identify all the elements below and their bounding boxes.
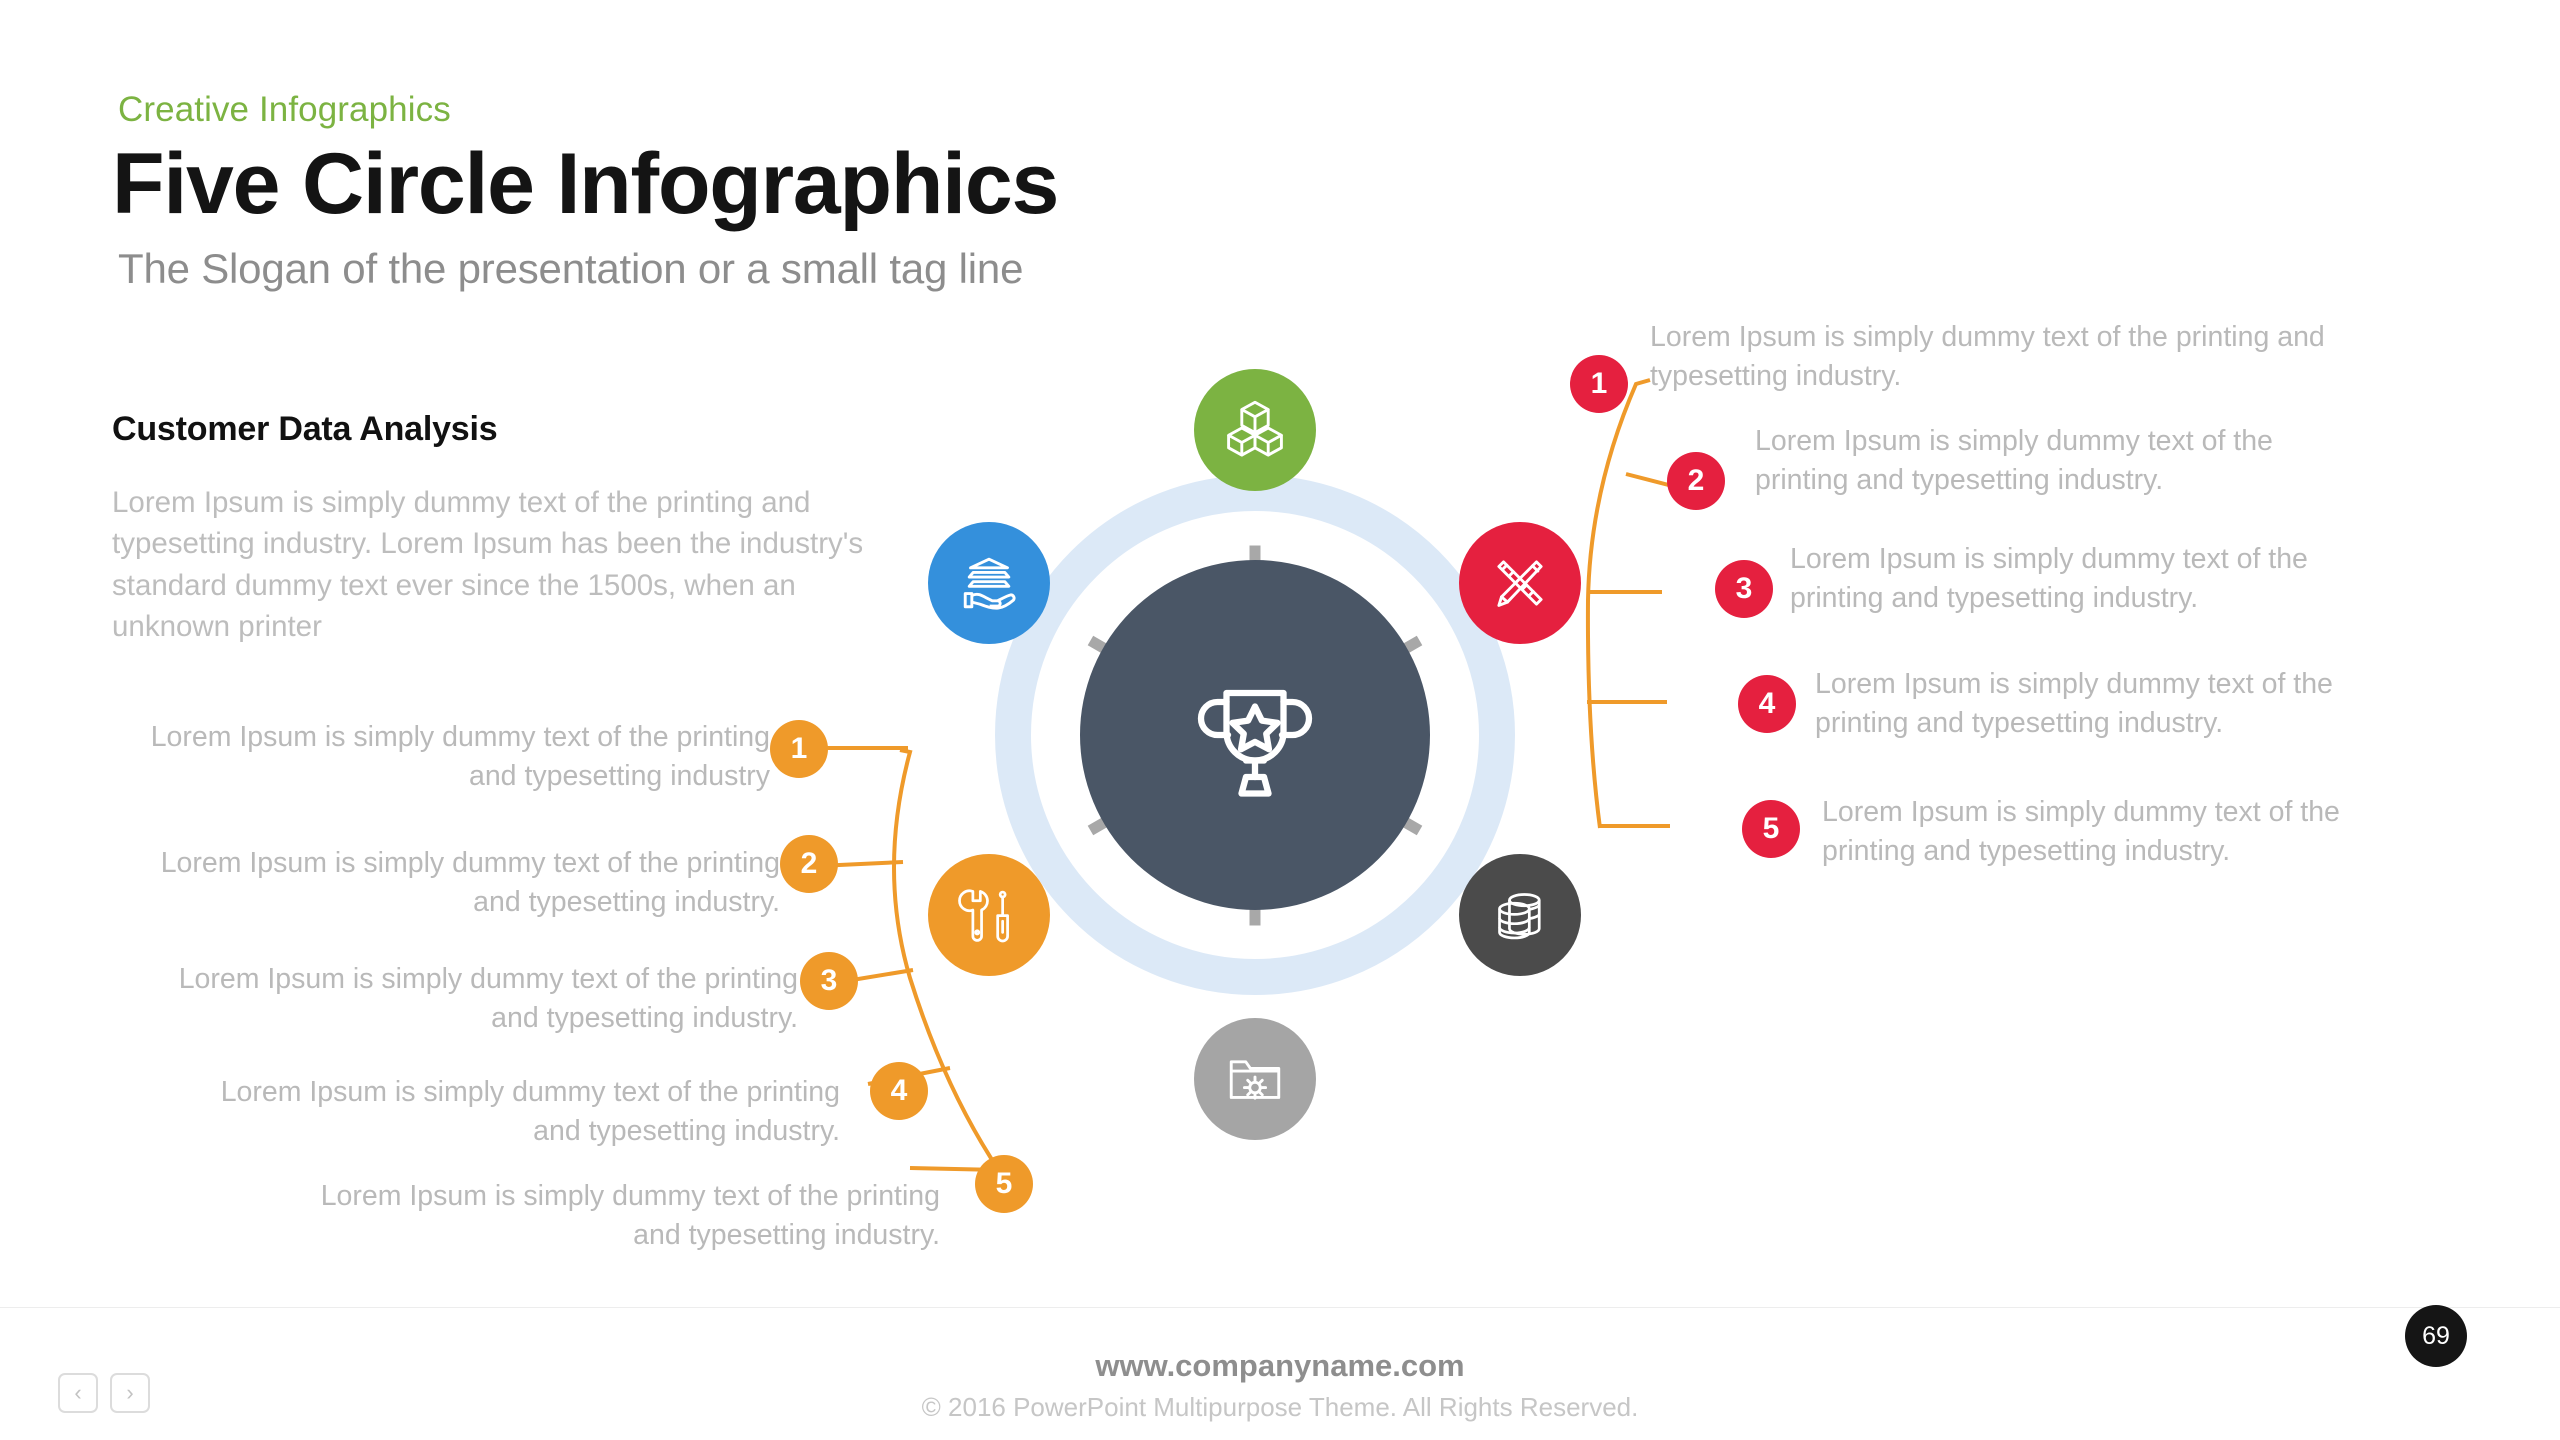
left-item-3-text: Lorem Ipsum is simply dummy text of the … — [168, 960, 798, 1039]
left-item-3-badge[interactable]: 3 — [800, 952, 858, 1010]
hand-layers-icon — [956, 550, 1022, 616]
left-item-2-text: Lorem Ipsum is simply dummy text of the … — [150, 844, 780, 923]
node-tools[interactable] — [928, 854, 1050, 976]
site-url[interactable]: www.companyname.com — [0, 1348, 2560, 1384]
right-item-4-text: Lorem Ipsum is simply dummy text of the … — [1815, 665, 2390, 744]
left-item-4-badge[interactable]: 4 — [870, 1062, 928, 1120]
node-folder-gear[interactable] — [1194, 1018, 1316, 1140]
right-item-1-badge[interactable]: 1 — [1570, 355, 1628, 413]
slide-slogan: The Slogan of the presentation or a smal… — [118, 245, 1023, 293]
page-title: Five Circle Infographics — [112, 135, 1058, 234]
left-item-1-badge[interactable]: 1 — [770, 720, 828, 778]
folder-gear-icon — [1222, 1046, 1288, 1112]
node-pencil-ruler[interactable] — [1459, 522, 1581, 644]
pencil-ruler-icon — [1487, 550, 1553, 616]
left-item-2-badge[interactable]: 2 — [780, 835, 838, 893]
left-item-5-badge[interactable]: 5 — [975, 1155, 1033, 1213]
footer-divider — [0, 1307, 2560, 1308]
cubes-icon — [1222, 397, 1288, 463]
right-item-3-badge[interactable]: 3 — [1715, 560, 1773, 618]
right-item-2-badge[interactable]: 2 — [1667, 452, 1725, 510]
right-item-2-text: Lorem Ipsum is simply dummy text of the … — [1755, 422, 2355, 501]
intro-body: Lorem Ipsum is simply dummy text of the … — [112, 482, 902, 647]
copyright-text: © 2016 PowerPoint Multipurpose Theme. Al… — [0, 1392, 2560, 1423]
right-item-5-badge[interactable]: 5 — [1742, 800, 1800, 858]
intro-heading: Customer Data Analysis — [112, 410, 497, 449]
node-hand-layers[interactable] — [928, 522, 1050, 644]
left-item-5-text: Lorem Ipsum is simply dummy text of the … — [310, 1177, 940, 1256]
right-item-5-text: Lorem Ipsum is simply dummy text of the … — [1822, 793, 2432, 872]
right-item-1-text: Lorem Ipsum is simply dummy text of the … — [1650, 318, 2370, 397]
database-icon — [1489, 884, 1551, 946]
left-item-1-text: Lorem Ipsum is simply dummy text of the … — [140, 718, 770, 797]
node-cubes[interactable] — [1194, 369, 1316, 491]
trophy-star-icon — [1180, 660, 1330, 810]
page-number-badge: 69 — [2405, 1305, 2467, 1367]
right-item-3-text: Lorem Ipsum is simply dummy text of the … — [1790, 540, 2390, 619]
tools-icon — [958, 884, 1020, 946]
circle-diagram — [950, 430, 1560, 1040]
left-item-4-text: Lorem Ipsum is simply dummy text of the … — [210, 1073, 840, 1152]
slide-eyebrow: Creative Infographics — [118, 90, 451, 130]
right-item-4-badge[interactable]: 4 — [1738, 675, 1796, 733]
node-database[interactable] — [1459, 854, 1581, 976]
hub-circle[interactable] — [1080, 560, 1430, 910]
slide-canvas: Creative Infographics Five Circle Infogr… — [0, 0, 2560, 1440]
